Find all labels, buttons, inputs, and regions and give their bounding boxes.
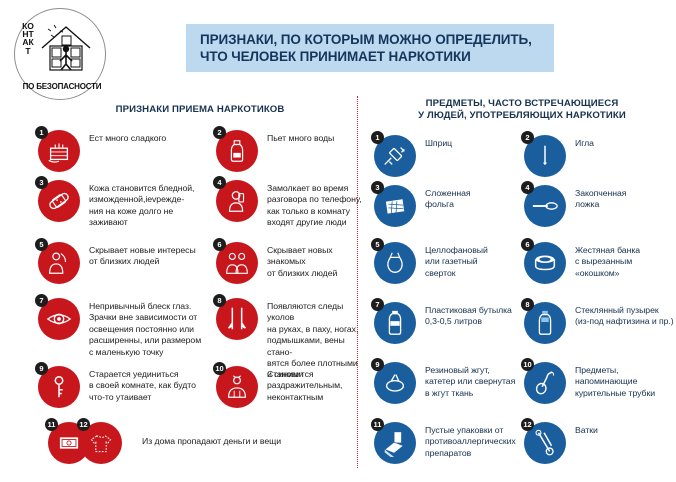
list-item: 8 Стеклянный пузырек (из-под нафтизина и… xyxy=(524,302,674,344)
badge: 4 xyxy=(524,185,566,227)
item-number: 2 xyxy=(213,126,226,139)
item-label: Целлофановый или газетный сверток xyxy=(425,242,488,279)
list-item: 4 Замолкает во время разговора по телефо… xyxy=(216,180,366,229)
item-label: Пустые упаковки от противоаллергических … xyxy=(425,422,516,459)
list-item: 5 Целлофановый или газетный сверток xyxy=(374,242,514,284)
list-item: 11 12 xyxy=(48,422,348,468)
list-item: 2 Пьет много воды xyxy=(216,130,356,172)
badge: 2 xyxy=(216,130,258,172)
badge: 1 xyxy=(38,130,80,172)
item-number: 8 xyxy=(213,294,226,307)
badge: 3 xyxy=(38,180,80,222)
item-label: Сложенная фольга xyxy=(425,185,471,211)
item-label: Игла xyxy=(575,135,594,149)
list-item: 7 Непривычный блеск глаз. Зрачки вне зав… xyxy=(38,298,213,358)
badge: 2 xyxy=(524,135,566,177)
item-label: Закопченная ложка xyxy=(575,185,626,211)
item-number: 4 xyxy=(521,181,534,194)
item-number: 6 xyxy=(521,238,534,251)
item-number: 3 xyxy=(35,176,48,189)
item-label: Становится раздражительным, неконтактным xyxy=(267,366,342,403)
badge: 6 xyxy=(524,242,566,284)
list-item: 3 Сложенная фольга xyxy=(374,185,514,227)
badge: 10 xyxy=(216,366,258,408)
item-label: Жестяная банка с вырезанным «окошком» xyxy=(575,242,640,279)
item-number: 10 xyxy=(521,358,534,371)
list-item: 7 Пластиковая бутылка 0,3-0,5 литров xyxy=(374,302,522,344)
item-label: Из дома пропадают деньги и вещи xyxy=(142,422,281,447)
left-column-heading: ПРИЗНАКИ ПРИЕМА НАРКОТИКОВ xyxy=(60,104,340,116)
item-label: Предметы, напоминающие курительные трубк… xyxy=(575,362,655,399)
item-label: Шприц xyxy=(425,135,452,149)
item-number: 5 xyxy=(371,238,384,251)
badge: 9 xyxy=(38,366,80,408)
right-column-heading: ПРЕДМЕТЫ, ЧАСТО ВСТРЕЧАЮЩИЕСЯ У ЛЮДЕЙ, У… xyxy=(378,98,666,122)
item-number: 5 xyxy=(35,238,48,251)
item-label: Кожа становится бледной, изможденной,iev… xyxy=(89,180,194,229)
item-number: 7 xyxy=(371,298,384,311)
item-label: Старается уединиться в своей комнате, ка… xyxy=(89,366,196,403)
badge: 8 xyxy=(524,302,566,344)
list-item: 6 Скрывает новых знакомых от близких люд… xyxy=(216,242,366,284)
item-label: Пьет много воды xyxy=(267,130,334,144)
infographic-page: КОНТАКТ ПО БЕЗОПАСНОСТИ ПРИЗНАКИ, ПО КОТ… xyxy=(0,0,676,482)
item-number: 1 xyxy=(35,126,48,139)
badge: 3 xyxy=(374,185,416,227)
badge: 1 xyxy=(374,135,416,177)
list-item: 1 Ест много сладкого xyxy=(38,130,198,172)
badge: 4 xyxy=(216,180,258,222)
list-item: 11 Пустые упаковки от противоаллергическ… xyxy=(374,422,522,464)
logo-vertical-letters: КОНТАКТ xyxy=(22,22,34,55)
list-item: 10 Предметы, напоминающие курительные тр… xyxy=(524,362,674,404)
list-item: 2 Игла xyxy=(524,135,654,177)
badge: 7 xyxy=(374,302,416,344)
item-number: 2 xyxy=(521,131,534,144)
badge: 12 xyxy=(524,422,566,464)
list-item: 9 Старается уединиться в своей комнате, … xyxy=(38,366,213,408)
page-title: ПРИЗНАКИ, ПО КОТОРЫМ МОЖНО ОПРЕДЕЛИТЬ, Ч… xyxy=(186,31,532,65)
item-label: Резиновый жгут, катетер или свернутая в … xyxy=(425,362,515,399)
list-item: 9 Резиновый жгут, катетер или свернутая … xyxy=(374,362,522,404)
dual-badge: 11 12 xyxy=(48,422,124,468)
item-number: 3 xyxy=(371,181,384,194)
list-item: 4 Закопченная ложка xyxy=(524,185,654,227)
item-label: Ест много сладкого xyxy=(89,130,166,144)
badge: 5 xyxy=(374,242,416,284)
item-number: 4 xyxy=(213,176,226,189)
title-banner: ПРИЗНАКИ, ПО КОТОРЫМ МОЖНО ОПРЕДЕЛИТЬ, Ч… xyxy=(186,24,554,72)
badge: 11 xyxy=(374,422,416,464)
item-label: Непривычный блеск глаз. Зрачки вне завис… xyxy=(89,298,201,358)
badge: 8 xyxy=(216,298,258,340)
house-emblem-icon xyxy=(38,20,94,76)
list-item: 3 Кожа становится бледной, изможденной,i… xyxy=(38,180,213,229)
list-item: 10 Становится раздражительным, неконтакт… xyxy=(216,366,366,408)
badge: 9 xyxy=(374,362,416,404)
badge: 6 xyxy=(216,242,258,284)
item-label: Пластиковая бутылка 0,3-0,5 литров xyxy=(425,302,512,328)
item-label: Замолкает во время разговора по телефону… xyxy=(267,180,362,229)
organization-logo: КОНТАКТ ПО БЕЗОПАСНОСТИ xyxy=(8,6,114,102)
item-number: 10 xyxy=(213,362,226,375)
list-item: 12 Ватки xyxy=(524,422,654,464)
badge: 7 xyxy=(38,298,80,340)
item-number: 11 xyxy=(371,418,384,431)
item-number: 11 xyxy=(45,418,58,431)
item-number: 12 xyxy=(521,418,534,431)
list-item: 1 Шприц xyxy=(374,135,514,177)
item-label: Скрывает новые интересы от близких людей xyxy=(89,242,196,268)
item-label: Ватки xyxy=(575,422,598,436)
item-label: Стеклянный пузырек (из-под нафтизина и п… xyxy=(575,302,674,328)
item-label: Скрывает новых знакомых от близких людей xyxy=(267,242,366,279)
item-number: 9 xyxy=(35,362,48,375)
badge: 5 xyxy=(38,242,80,284)
item-number: 1 xyxy=(371,131,384,144)
item-number: 8 xyxy=(521,298,534,311)
logo-bottom-text: ПО БЕЗОПАСНОСТИ xyxy=(16,82,108,91)
badge: 10 xyxy=(524,362,566,404)
list-item: 6 Жестяная банка с вырезанным «окошком» xyxy=(524,242,659,284)
item-number: 6 xyxy=(213,238,226,251)
item-number: 12 xyxy=(77,418,90,431)
item-number: 7 xyxy=(35,294,48,307)
item-number: 9 xyxy=(371,358,384,371)
list-item: 5 Скрывает новые интересы от близких люд… xyxy=(38,242,213,284)
